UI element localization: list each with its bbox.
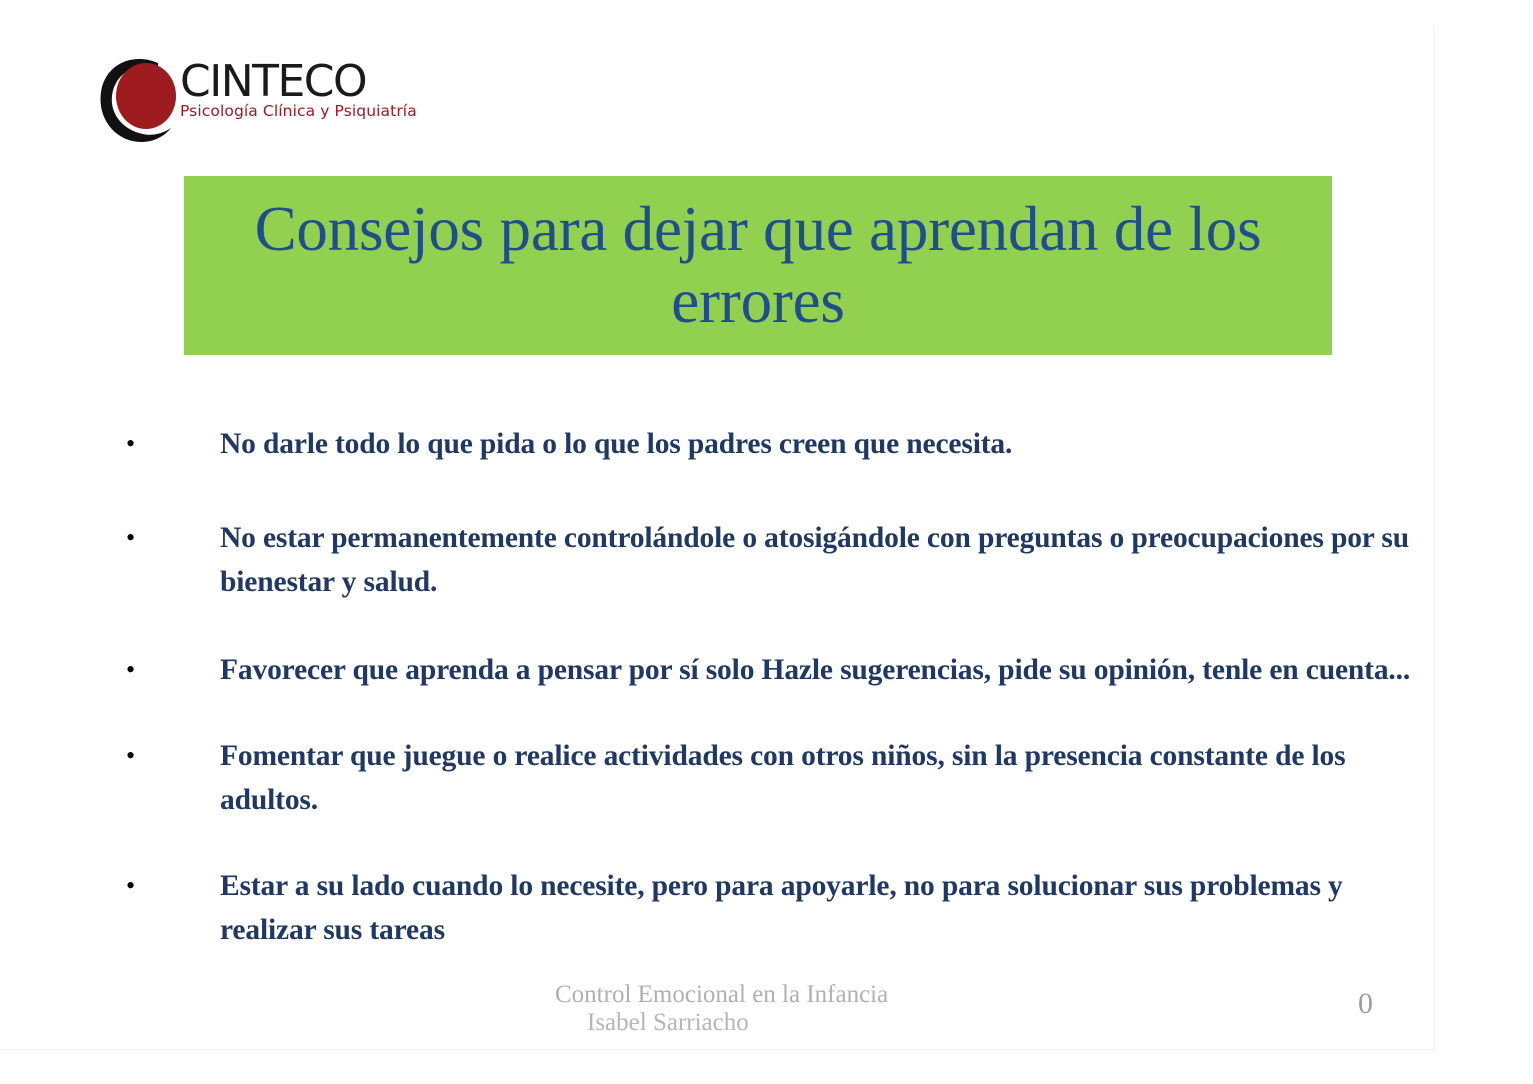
svg-text:CINTECO: CINTECO [180, 56, 366, 107]
slide-footer: Control Emocional en la Infancia Isabel … [555, 982, 975, 1036]
bullet-marker-icon: • [118, 422, 220, 466]
cinteco-tagline: Psicología Clínica y Psiquiatría [180, 102, 390, 120]
bullet-text: No estar permanentemente controlándole o… [220, 516, 1418, 604]
cinteco-wordmark-icon: CINTECO [180, 54, 380, 148]
bullet-text: Estar a su lado cuando lo necesite, pero… [220, 864, 1418, 952]
list-item: • Favorecer que aprenda a pensar por sí … [118, 648, 1418, 692]
bullet-text: No darle todo lo que pida o lo que los p… [220, 422, 1418, 466]
cinteco-logo: CINTECO Psicología Clínica y Psiquiatría [95, 50, 385, 150]
bullet-text: Favorecer que aprenda a pensar por sí so… [220, 648, 1418, 692]
bullet-marker-icon: • [118, 864, 220, 908]
title-banner: Consejos para dejar que aprendan de los … [184, 176, 1332, 355]
cinteco-logo-mark-icon [95, 54, 183, 144]
list-item: • Estar a su lado cuando lo necesite, pe… [118, 864, 1418, 952]
bullet-text: Fomentar que juegue o realice actividade… [220, 734, 1418, 822]
list-item: • No darle todo lo que pida o lo que los… [118, 422, 1418, 466]
page-number: 0 [1358, 986, 1373, 1022]
slide-title: Consejos para dejar que aprendan de los … [184, 194, 1332, 338]
list-item: • Fomentar que juegue o realice activida… [118, 734, 1418, 822]
list-item: • No estar permanentemente controlándole… [118, 516, 1418, 604]
bullet-marker-icon: • [118, 516, 220, 560]
footer-author: Isabel Sarriacho [555, 1010, 975, 1036]
bullet-marker-icon: • [118, 648, 220, 692]
bullet-marker-icon: • [118, 734, 220, 778]
bullet-list: • No darle todo lo que pida o lo que los… [118, 422, 1418, 990]
